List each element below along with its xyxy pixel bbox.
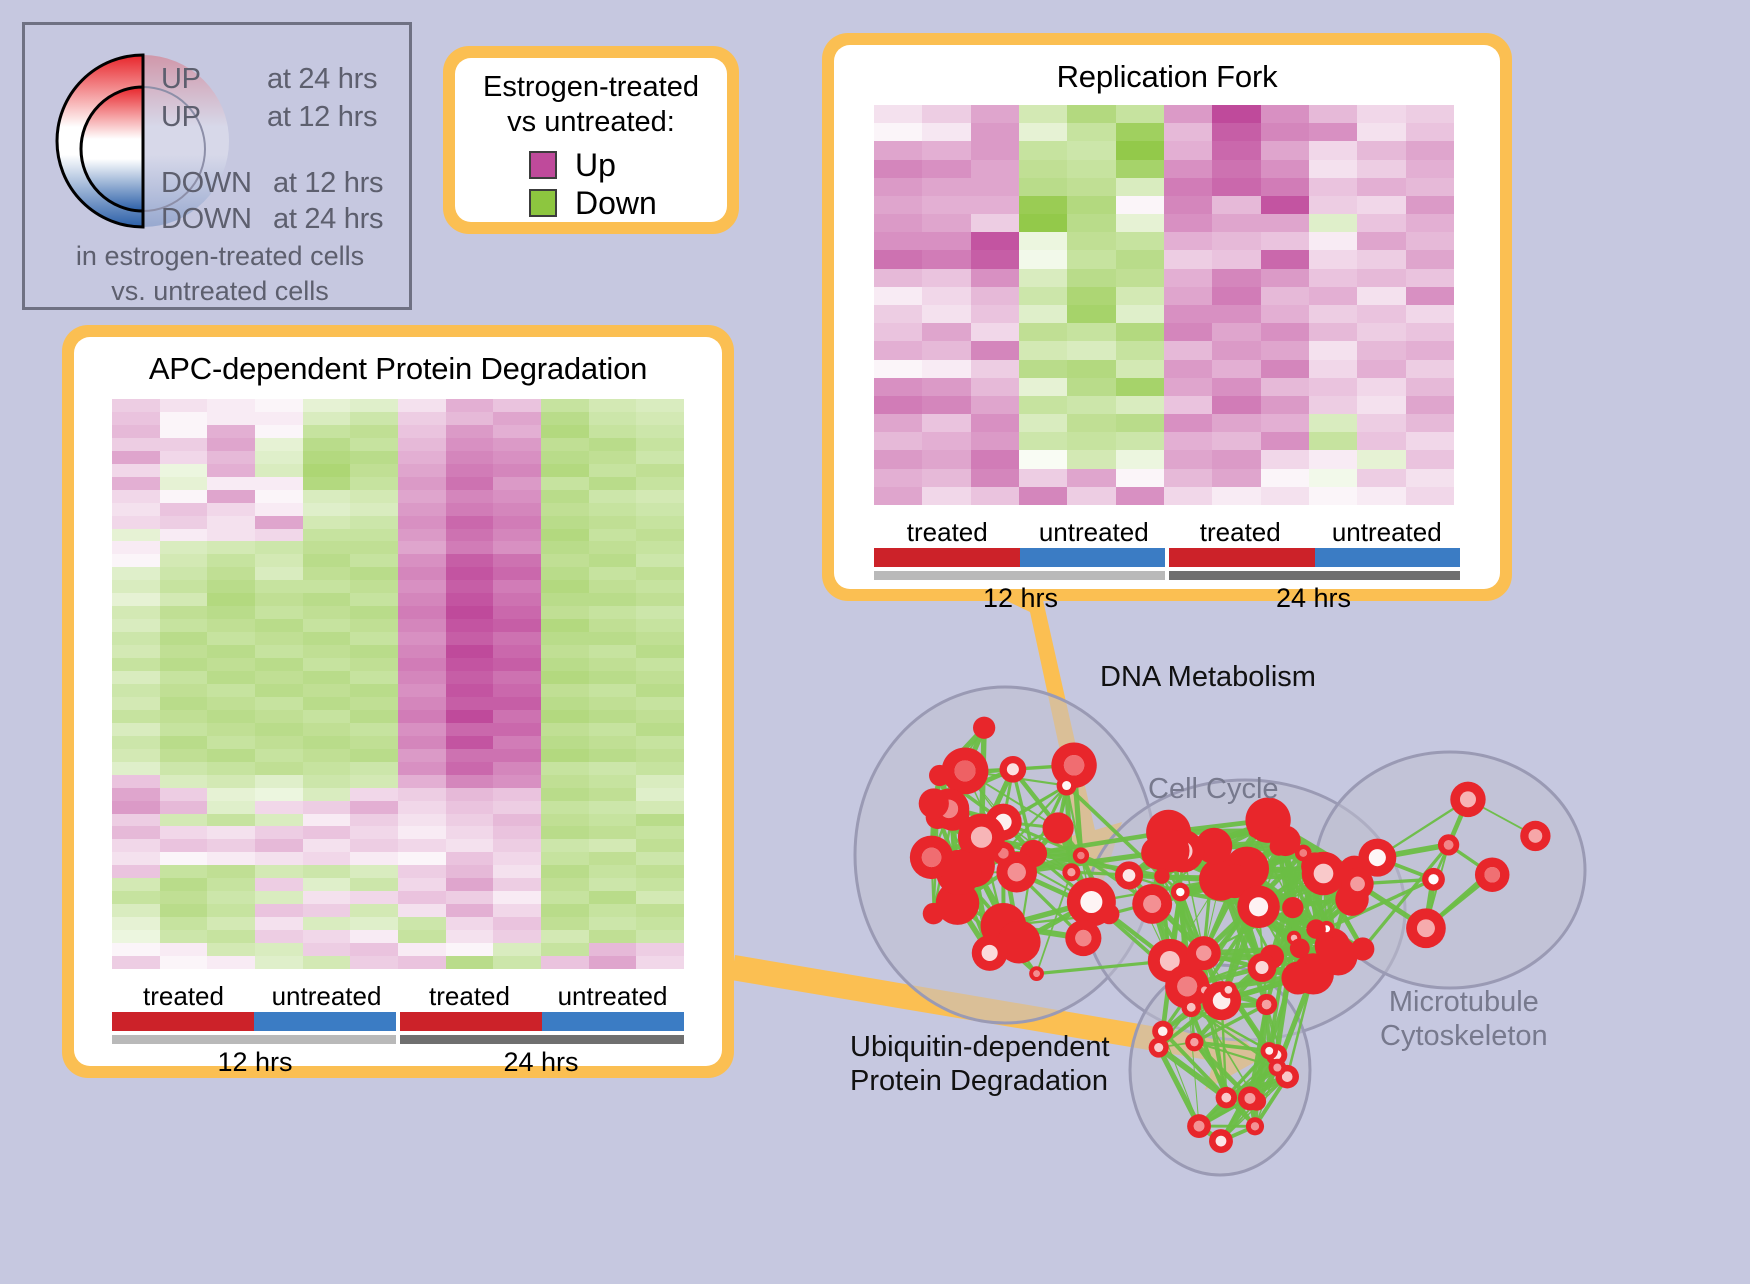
network-node[interactable]	[1319, 937, 1358, 976]
heatmap-cell	[112, 632, 160, 645]
heatmap-cell	[207, 723, 255, 736]
heatmap-cell	[636, 503, 684, 516]
heatmap-cell	[874, 487, 922, 505]
heatmap-cell	[255, 490, 303, 503]
heatmap-cell	[160, 943, 208, 956]
heatmap-cell	[398, 477, 446, 490]
heatmap-cell	[350, 878, 398, 891]
heatmap-cell	[446, 529, 494, 542]
heatmap-cell	[636, 826, 684, 839]
heatmap-cell	[446, 516, 494, 529]
apc-timepoint-bar	[112, 1035, 684, 1044]
heatmap-cell	[541, 697, 589, 710]
heatmap-cell	[207, 826, 255, 839]
heatmap-cell	[1406, 287, 1454, 305]
heatmap-cell	[398, 710, 446, 723]
heatmap-cell	[303, 645, 351, 658]
heatmap-cell	[493, 878, 541, 891]
condition-label: untreated	[255, 981, 398, 1012]
heatmap-cell	[1164, 341, 1212, 359]
heatmap-cell	[303, 425, 351, 438]
heatmap-cell	[1212, 105, 1260, 123]
legend-title-line2: vs untreated:	[455, 105, 727, 140]
heatmap-cell	[1212, 214, 1260, 232]
heatmap-cell	[255, 399, 303, 412]
network-node[interactable]	[1282, 897, 1303, 918]
heatmap-cell	[207, 593, 255, 606]
heatmap-cell	[112, 529, 160, 542]
heatmap-cell	[112, 839, 160, 852]
heatmap-cell	[1261, 378, 1309, 396]
heatmap-cell	[207, 943, 255, 956]
heatmap-cell	[589, 839, 637, 852]
heatmap-cell	[255, 878, 303, 891]
heatmap-cell	[1406, 432, 1454, 450]
heatmap-cell	[446, 788, 494, 801]
heatmap-cell	[1164, 450, 1212, 468]
heatmap-cell	[589, 451, 637, 464]
heatmap-cell	[636, 541, 684, 554]
heatmap-cell	[398, 956, 446, 969]
heatmap-cell	[1406, 250, 1454, 268]
replication-fork-condition-labels: treateduntreatedtreateduntreated	[874, 517, 1460, 548]
network-node[interactable]	[1043, 812, 1074, 843]
heatmap-cell	[303, 917, 351, 930]
network-node-core-tint	[1262, 1000, 1272, 1010]
network-node-core-tint	[1417, 919, 1435, 937]
heatmap-cell	[636, 930, 684, 943]
heatmap-cell	[398, 619, 446, 632]
heatmap-cell	[1309, 414, 1357, 432]
heatmap-cell	[589, 438, 637, 451]
heatmap-cell	[541, 930, 589, 943]
heatmap-cell	[160, 632, 208, 645]
heatmap-cell	[398, 438, 446, 451]
heatmap-cell	[303, 593, 351, 606]
heatmap-cell	[541, 671, 589, 684]
heatmap-cell	[589, 619, 637, 632]
heatmap-cell	[1309, 269, 1357, 287]
heatmap-cell	[1357, 469, 1405, 487]
heatmap-cell	[636, 580, 684, 593]
heatmap-cell	[1067, 214, 1115, 232]
network-node[interactable]	[1154, 868, 1169, 883]
heatmap-cell	[112, 956, 160, 969]
heatmap-cell	[541, 606, 589, 619]
heatmap-cell	[207, 775, 255, 788]
heatmap-cell	[398, 645, 446, 658]
heatmap-cell	[922, 287, 970, 305]
heatmap-cell	[541, 839, 589, 852]
heatmap-cell	[446, 697, 494, 710]
network-node-core-tint	[1064, 755, 1084, 775]
heatmap-cell	[636, 671, 684, 684]
heatmap-cell	[1164, 232, 1212, 250]
heatmap-cell	[112, 852, 160, 865]
heatmap-cell	[398, 451, 446, 464]
network-node[interactable]	[1281, 962, 1314, 995]
heatmap-cell	[1019, 305, 1067, 323]
network-node[interactable]	[1146, 829, 1190, 873]
heatmap-cell	[160, 658, 208, 671]
network-node[interactable]	[973, 717, 995, 739]
heatmap-cell	[160, 490, 208, 503]
heatmap-cell	[922, 469, 970, 487]
network-node-core-tint	[971, 827, 992, 848]
heatmap-cell	[207, 606, 255, 619]
key-ring-sub-up-12: at 12 hrs	[267, 101, 377, 134]
heatmap-cell	[1116, 269, 1164, 287]
heatmap-cell	[971, 105, 1019, 123]
heatmap-cell	[160, 619, 208, 632]
network-node-core-tint	[1033, 970, 1040, 977]
heatmap-cell	[303, 554, 351, 567]
heatmap-cell	[1164, 214, 1212, 232]
heatmap-cell	[1406, 141, 1454, 159]
heatmap-cell	[922, 378, 970, 396]
network-label-microtubule-cytoskeleton: Microtubule Cytoskeleton	[1380, 985, 1548, 1053]
heatmap-cell	[112, 567, 160, 580]
heatmap-cell	[1261, 360, 1309, 378]
network-node-core-tint	[1529, 829, 1543, 843]
heatmap-cell	[112, 878, 160, 891]
legend-label-down: Down	[575, 187, 657, 219]
heatmap-cell	[589, 956, 637, 969]
heatmap-cell	[160, 736, 208, 749]
heatmap-cell	[255, 736, 303, 749]
heatmap-cell	[207, 801, 255, 814]
heatmap-cell	[1067, 432, 1115, 450]
network-label-ubiquitin-degradation: Ubiquitin-dependent Protein Degradation	[850, 1030, 1110, 1098]
timepoint-label: 12 hrs	[874, 583, 1167, 614]
heatmap-cell	[1261, 196, 1309, 214]
heatmap-cell	[493, 438, 541, 451]
condition-color-segment	[254, 1012, 396, 1031]
heatmap-cell	[541, 826, 589, 839]
heatmap-cell	[1261, 469, 1309, 487]
heatmap-cell	[207, 762, 255, 775]
heatmap-cell	[1164, 432, 1212, 450]
heatmap-cell	[1067, 341, 1115, 359]
heatmap-cell	[1116, 141, 1164, 159]
heatmap-cell	[1406, 123, 1454, 141]
heatmap-cell	[160, 788, 208, 801]
heatmap-cell	[160, 762, 208, 775]
heatmap-cell	[398, 775, 446, 788]
condition-color-segment	[112, 1012, 254, 1031]
heatmap-cell	[1406, 469, 1454, 487]
network-node-core-tint	[1460, 791, 1476, 807]
key-ring-label-up-12: UP	[161, 101, 201, 134]
heatmap-cell	[971, 450, 1019, 468]
condition-label: treated	[398, 981, 541, 1012]
heatmap-cell	[1357, 360, 1405, 378]
heatmap-cell	[207, 438, 255, 451]
heatmap-cell	[446, 632, 494, 645]
network-node-core-tint	[1249, 897, 1268, 916]
heatmap-cell	[350, 451, 398, 464]
heatmap-cell	[1261, 396, 1309, 414]
heatmap-cell	[398, 593, 446, 606]
heatmap-cell	[1164, 269, 1212, 287]
heatmap-cell	[1261, 450, 1309, 468]
heatmap-cell	[493, 645, 541, 658]
heatmap-cell	[636, 606, 684, 619]
heatmap-cell	[350, 516, 398, 529]
heatmap-cell	[1116, 414, 1164, 432]
heatmap-cell	[207, 671, 255, 684]
heatmap-cell	[636, 736, 684, 749]
heatmap-cell	[589, 516, 637, 529]
heatmap-cell	[160, 671, 208, 684]
heatmap-cell	[636, 762, 684, 775]
heatmap-cell	[1309, 323, 1357, 341]
heatmap-cell	[1019, 323, 1067, 341]
heatmap-cell	[971, 214, 1019, 232]
heatmap-cell	[160, 930, 208, 943]
heatmap-cell	[160, 399, 208, 412]
heatmap-cell	[350, 541, 398, 554]
heatmap-cell	[446, 852, 494, 865]
heatmap-cell	[207, 490, 255, 503]
heatmap-cell	[1406, 360, 1454, 378]
heatmap-cell	[636, 399, 684, 412]
heatmap-cell	[493, 619, 541, 632]
network-node[interactable]	[1306, 919, 1326, 939]
heatmap-cell	[541, 762, 589, 775]
heatmap-cell	[922, 432, 970, 450]
heatmap-cell	[1019, 396, 1067, 414]
heatmap-cell	[398, 891, 446, 904]
heatmap-cell	[589, 762, 637, 775]
heatmap-cell	[160, 425, 208, 438]
network-node[interactable]	[919, 788, 949, 818]
heatmap-cell	[1309, 469, 1357, 487]
heatmap-cell	[446, 814, 494, 827]
heatmap-cell	[1357, 232, 1405, 250]
heatmap-cell	[493, 865, 541, 878]
heatmap-cell	[255, 477, 303, 490]
heatmap-cell	[922, 105, 970, 123]
heatmap-cell	[1067, 232, 1115, 250]
heatmap-cell	[493, 749, 541, 762]
network-node[interactable]	[929, 765, 950, 786]
heatmap-cell	[874, 141, 922, 159]
heatmap-cell	[1212, 487, 1260, 505]
heatmap-cell	[1261, 250, 1309, 268]
heatmap-cell	[303, 878, 351, 891]
heatmap-cell	[446, 541, 494, 554]
heatmap-cell	[636, 412, 684, 425]
heatmap-cell	[1019, 123, 1067, 141]
heatmap-cell	[207, 697, 255, 710]
heatmap-cell	[446, 490, 494, 503]
heatmap-cell	[160, 541, 208, 554]
heatmap-cell	[350, 671, 398, 684]
heatmap-cell	[112, 788, 160, 801]
heatmap-cell	[541, 554, 589, 567]
updown-legend-panel: Estrogen-treated vs untreated: Up Down	[443, 46, 739, 234]
heatmap-cell	[874, 105, 922, 123]
heatmap-cell	[398, 762, 446, 775]
heatmap-cell	[207, 464, 255, 477]
heatmap-cell	[1116, 469, 1164, 487]
heatmap-cell	[303, 477, 351, 490]
heatmap-cell	[160, 801, 208, 814]
heatmap-cell	[493, 710, 541, 723]
heatmap-cell	[541, 891, 589, 904]
heatmap-cell	[350, 697, 398, 710]
heatmap-cell	[493, 606, 541, 619]
network-node-core-tint	[1251, 1122, 1259, 1130]
heatmap-cell	[446, 943, 494, 956]
heatmap-cell	[303, 567, 351, 580]
heatmap-cell	[1212, 378, 1260, 396]
heatmap-cell	[1309, 105, 1357, 123]
heatmap-cell	[1164, 487, 1212, 505]
heatmap-cell	[446, 606, 494, 619]
heatmap-cell	[589, 593, 637, 606]
heatmap-cell	[303, 451, 351, 464]
heatmap-cell	[922, 323, 970, 341]
heatmap-cell	[636, 749, 684, 762]
heatmap-cell	[589, 477, 637, 490]
apc-title: APC-dependent Protein Degradation	[74, 337, 722, 387]
heatmap-cell	[971, 123, 1019, 141]
network-node-core-tint	[954, 760, 975, 781]
network-node-core-tint	[1484, 867, 1500, 883]
replication-fork-timepoint-labels: 12 hrs24 hrs	[874, 583, 1460, 614]
heatmap-cell	[1309, 287, 1357, 305]
heatmap-cell	[1261, 105, 1309, 123]
heatmap-cell	[207, 580, 255, 593]
condition-label: untreated	[1021, 517, 1168, 548]
heatmap-cell	[636, 464, 684, 477]
heatmap-cell	[493, 852, 541, 865]
heatmap-cell	[636, 956, 684, 969]
heatmap-cell	[1406, 378, 1454, 396]
heatmap-cell	[636, 516, 684, 529]
network-node[interactable]	[1290, 938, 1310, 958]
heatmap-cell	[1406, 450, 1454, 468]
heatmap-cell	[1406, 232, 1454, 250]
heatmap-cell	[255, 956, 303, 969]
heatmap-cell	[398, 788, 446, 801]
heatmap-cell	[160, 710, 208, 723]
heatmap-cell	[303, 865, 351, 878]
network-node-core-tint	[1143, 895, 1161, 913]
heatmap-cell	[1164, 287, 1212, 305]
heatmap-cell	[446, 684, 494, 697]
network-node[interactable]	[1270, 826, 1300, 856]
replication-fork-condition-bar	[874, 548, 1460, 567]
heatmap-cell	[112, 891, 160, 904]
legend-key-box: UP at 24 hrs UP at 12 hrs DOWN at 12 hrs…	[22, 22, 412, 310]
heatmap-cell	[398, 839, 446, 852]
heatmap-cell	[636, 852, 684, 865]
heatmap-cell	[446, 593, 494, 606]
heatmap-cell	[541, 788, 589, 801]
heatmap-cell	[1019, 269, 1067, 287]
heatmap-cell	[255, 567, 303, 580]
heatmap-cell	[207, 684, 255, 697]
heatmap-cell	[636, 710, 684, 723]
heatmap-cell	[446, 464, 494, 477]
condition-color-segment	[1315, 548, 1461, 567]
heatmap-cell	[1164, 250, 1212, 268]
heatmap-cell	[636, 891, 684, 904]
heatmap-cell	[255, 710, 303, 723]
heatmap-cell	[1309, 232, 1357, 250]
heatmap-cell	[303, 956, 351, 969]
network-node-core-tint	[1007, 763, 1019, 775]
heatmap-cell	[160, 438, 208, 451]
legend-item-down: Down	[529, 184, 727, 222]
heatmap-cell	[541, 464, 589, 477]
heatmap-cell	[303, 749, 351, 762]
heatmap-cell	[255, 891, 303, 904]
heatmap-cell	[541, 723, 589, 736]
heatmap-cell	[1261, 123, 1309, 141]
heatmap-cell	[398, 671, 446, 684]
heatmap-cell	[255, 684, 303, 697]
heatmap-cell	[493, 826, 541, 839]
heatmap-cell	[1406, 414, 1454, 432]
heatmap-cell	[1261, 414, 1309, 432]
heatmap-cell	[1019, 432, 1067, 450]
network-node-core-tint	[1190, 1038, 1198, 1046]
replication-fork-timepoint-bar	[874, 571, 1460, 580]
heatmap-cell	[1019, 214, 1067, 232]
heatmap-cell	[398, 658, 446, 671]
condition-color-segment	[400, 1012, 542, 1031]
heatmap-cell	[493, 477, 541, 490]
heatmap-cell	[1212, 323, 1260, 341]
heatmap-cell	[112, 671, 160, 684]
heatmap-cell	[493, 580, 541, 593]
heatmap-cell	[398, 943, 446, 956]
network-node[interactable]	[923, 903, 944, 924]
heatmap-cell	[398, 632, 446, 645]
heatmap-cell	[971, 341, 1019, 359]
heatmap-cell	[207, 878, 255, 891]
network-node-core-tint	[1154, 1043, 1163, 1052]
heatmap-cell	[1357, 341, 1405, 359]
heatmap-cell	[1067, 160, 1115, 178]
heatmap-cell	[350, 723, 398, 736]
heatmap-cell	[493, 464, 541, 477]
heatmap-cell	[541, 904, 589, 917]
heatmap-cell	[398, 917, 446, 930]
heatmap-cell	[541, 749, 589, 762]
heatmap-cell	[303, 736, 351, 749]
heatmap-cell	[160, 956, 208, 969]
heatmap-cell	[541, 736, 589, 749]
heatmap-cell	[1164, 141, 1212, 159]
heatmap-cell	[922, 196, 970, 214]
apc-degradation-panel: APC-dependent Protein Degradation treate…	[62, 325, 734, 1078]
heatmap-cell	[589, 775, 637, 788]
heatmap-cell	[207, 567, 255, 580]
heatmap-cell	[446, 826, 494, 839]
heatmap-cell	[112, 503, 160, 516]
heatmap-cell	[303, 852, 351, 865]
heatmap-cell	[636, 723, 684, 736]
timepoint-color-segment	[400, 1035, 684, 1044]
heatmap-cell	[589, 658, 637, 671]
heatmap-cell	[350, 891, 398, 904]
heatmap-cell	[1309, 196, 1357, 214]
